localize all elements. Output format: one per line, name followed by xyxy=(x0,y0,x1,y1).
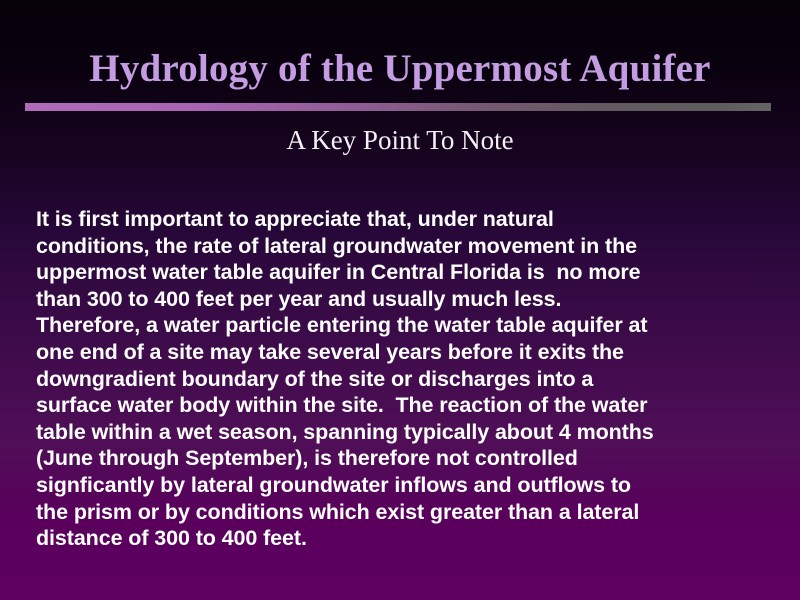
body-line: (June through September), is therefore n… xyxy=(36,445,774,472)
body-line: surface water body within the site. The … xyxy=(36,392,774,419)
slide-subtitle-container: A Key Point To Note xyxy=(0,124,800,156)
page-title: Hydrology of the Uppermost Aquifer xyxy=(0,46,800,92)
body-line: It is first important to appreciate that… xyxy=(36,206,774,233)
body-line: conditions, the rate of lateral groundwa… xyxy=(36,233,774,260)
body-line: the prism or by conditions which exist g… xyxy=(36,499,774,526)
body-line: downgradient boundary of the site or dis… xyxy=(36,366,774,393)
body-line: distance of 300 to 400 feet. xyxy=(36,525,774,552)
body-line: Therefore, a water particle entering the… xyxy=(36,312,774,339)
body-line: one end of a site may take several years… xyxy=(36,339,774,366)
slide-body-text: It is first important to appreciate that… xyxy=(36,206,774,552)
body-line: signficantly by lateral groundwater infl… xyxy=(36,472,774,499)
presentation-slide: Hydrology of the Uppermost Aquifer A Key… xyxy=(0,0,800,600)
slide-title-container: Hydrology of the Uppermost Aquifer xyxy=(0,46,800,92)
body-line: uppermost water table aquifer in Central… xyxy=(36,259,774,286)
slide-subtitle: A Key Point To Note xyxy=(0,124,800,156)
body-line: than 300 to 400 feet per year and usuall… xyxy=(36,286,774,313)
body-line: table within a wet season, spanning typi… xyxy=(36,419,774,446)
title-divider-rule xyxy=(25,103,771,111)
